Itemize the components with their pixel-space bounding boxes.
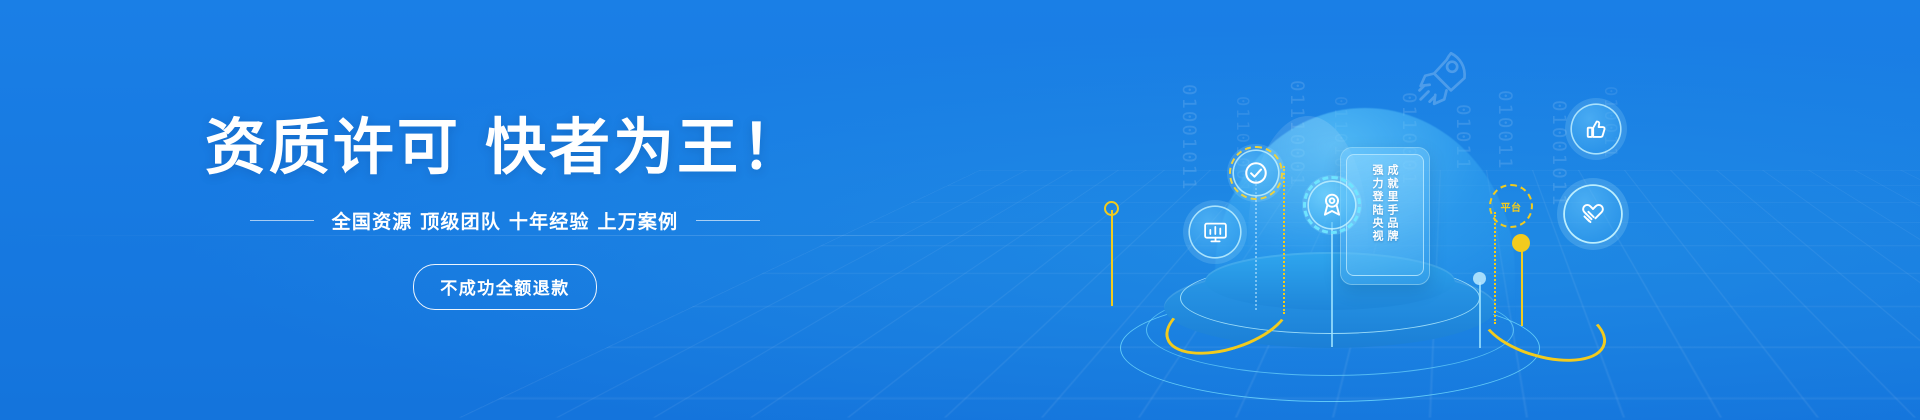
subtitle-rule-right bbox=[696, 220, 760, 222]
subtitle-rule-left bbox=[250, 220, 314, 222]
award-medal-icon[interactable] bbox=[1309, 182, 1355, 228]
subtitle-row: 全国资源 顶级团队 十年经验 上万案例 bbox=[250, 207, 761, 234]
stem-cyan-right bbox=[1479, 282, 1481, 348]
stem-yellow-left bbox=[1111, 210, 1113, 306]
hero-text-block: 资质许可 快者为王！ 全国资源 顶级团队 十年经验 上万案例 不成功全额退款 bbox=[0, 0, 1010, 420]
stem-dotted-yellow-right bbox=[1494, 212, 1496, 324]
binary-column: 01001011 bbox=[1178, 84, 1200, 192]
stem-dotted-yellow bbox=[1283, 166, 1285, 314]
chart-monitor-icon[interactable] bbox=[1190, 207, 1240, 257]
stem-ring-dot-left bbox=[1104, 201, 1119, 216]
thumbs-up-icon[interactable] bbox=[1572, 105, 1620, 153]
subtitle-text: 全国资源 顶级团队 十年经验 上万案例 bbox=[332, 207, 679, 234]
stem-cyan-medal bbox=[1331, 222, 1333, 347]
binary-column: 01001011 bbox=[1548, 100, 1570, 208]
hero-banner: 01001011 01101001 01110001 011010011 011… bbox=[0, 0, 1920, 420]
platform-tag-badge[interactable]: 平台 bbox=[1489, 184, 1533, 228]
stem-dot-cyan bbox=[1473, 272, 1486, 285]
page-title: 资质许可 快者为王！ bbox=[205, 114, 805, 181]
brand-card-line-left: 强力登陆央视 bbox=[1372, 164, 1383, 243]
stem-yellow-right bbox=[1521, 244, 1523, 326]
rocket-icon bbox=[1406, 42, 1478, 114]
brand-card-line-right: 成就里手品牌 bbox=[1387, 164, 1398, 243]
refund-guarantee-button[interactable]: 不成功全额退款 bbox=[413, 264, 597, 310]
stem-dot-yellow bbox=[1512, 234, 1530, 252]
binary-column: 010011 bbox=[1494, 90, 1516, 171]
check-circle-icon[interactable] bbox=[1234, 151, 1278, 195]
handshake-heart-icon[interactable] bbox=[1565, 186, 1621, 242]
